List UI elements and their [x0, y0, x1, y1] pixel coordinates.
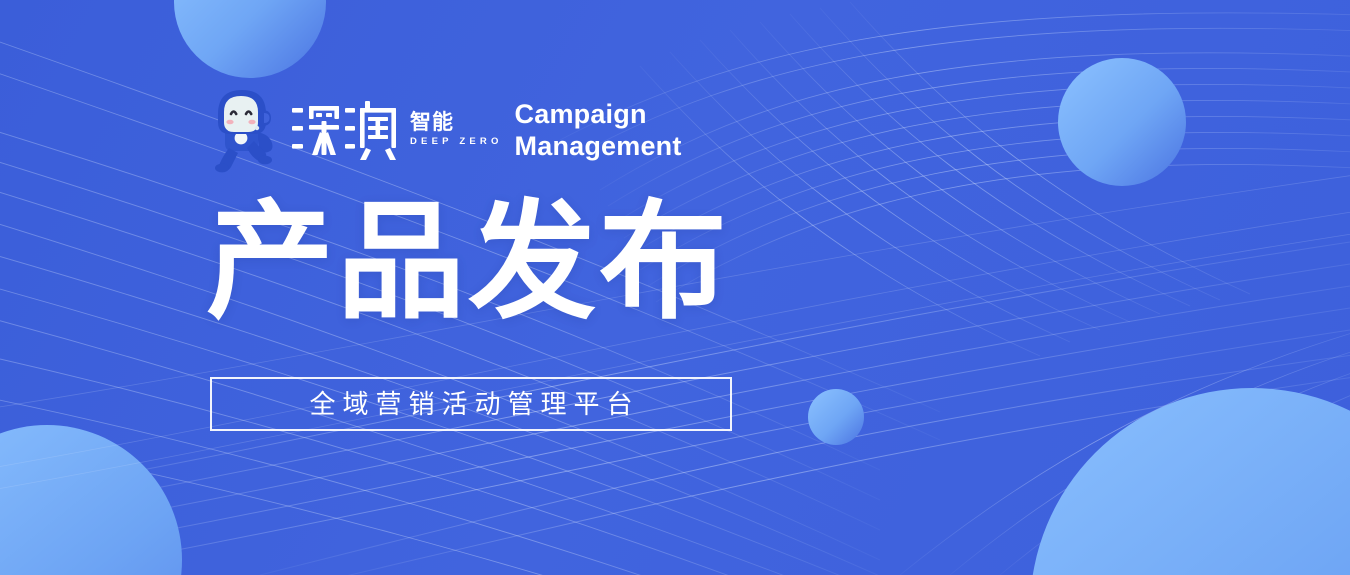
subtitle-text: 全域营销活动管理平台: [302, 389, 639, 419]
circle-bottom-left: [0, 425, 182, 575]
brand-en-line1: Campaign: [515, 98, 682, 130]
robot-mascot-icon: [205, 84, 283, 176]
brand-en-title: Campaign Management: [515, 98, 682, 162]
logo-lockup: 智能 DEEP ZERO Campaign Management: [205, 82, 682, 178]
brand-sub-lockup: 智能 DEEP ZERO: [410, 99, 503, 161]
brand-en-small: DEEP ZERO: [410, 136, 503, 148]
brand-en-line2: Management: [515, 130, 682, 162]
circle-top-left: [174, 0, 326, 78]
circle-mid-right: [808, 389, 864, 445]
wave-mesh-cross: [640, 2, 1250, 356]
headline-title: 产品发布: [206, 196, 730, 330]
circle-bottom-right: [1030, 388, 1350, 575]
product-launch-banner: 智能 DEEP ZERO Campaign Management 产品发布 全域…: [0, 0, 1350, 575]
subtitle-box: 全域营销活动管理平台: [210, 377, 732, 431]
brand-cn-secondary: 智能: [410, 111, 503, 134]
brand-wordmark-cn-icon: [290, 99, 402, 161]
circle-top-right: [1058, 58, 1186, 186]
